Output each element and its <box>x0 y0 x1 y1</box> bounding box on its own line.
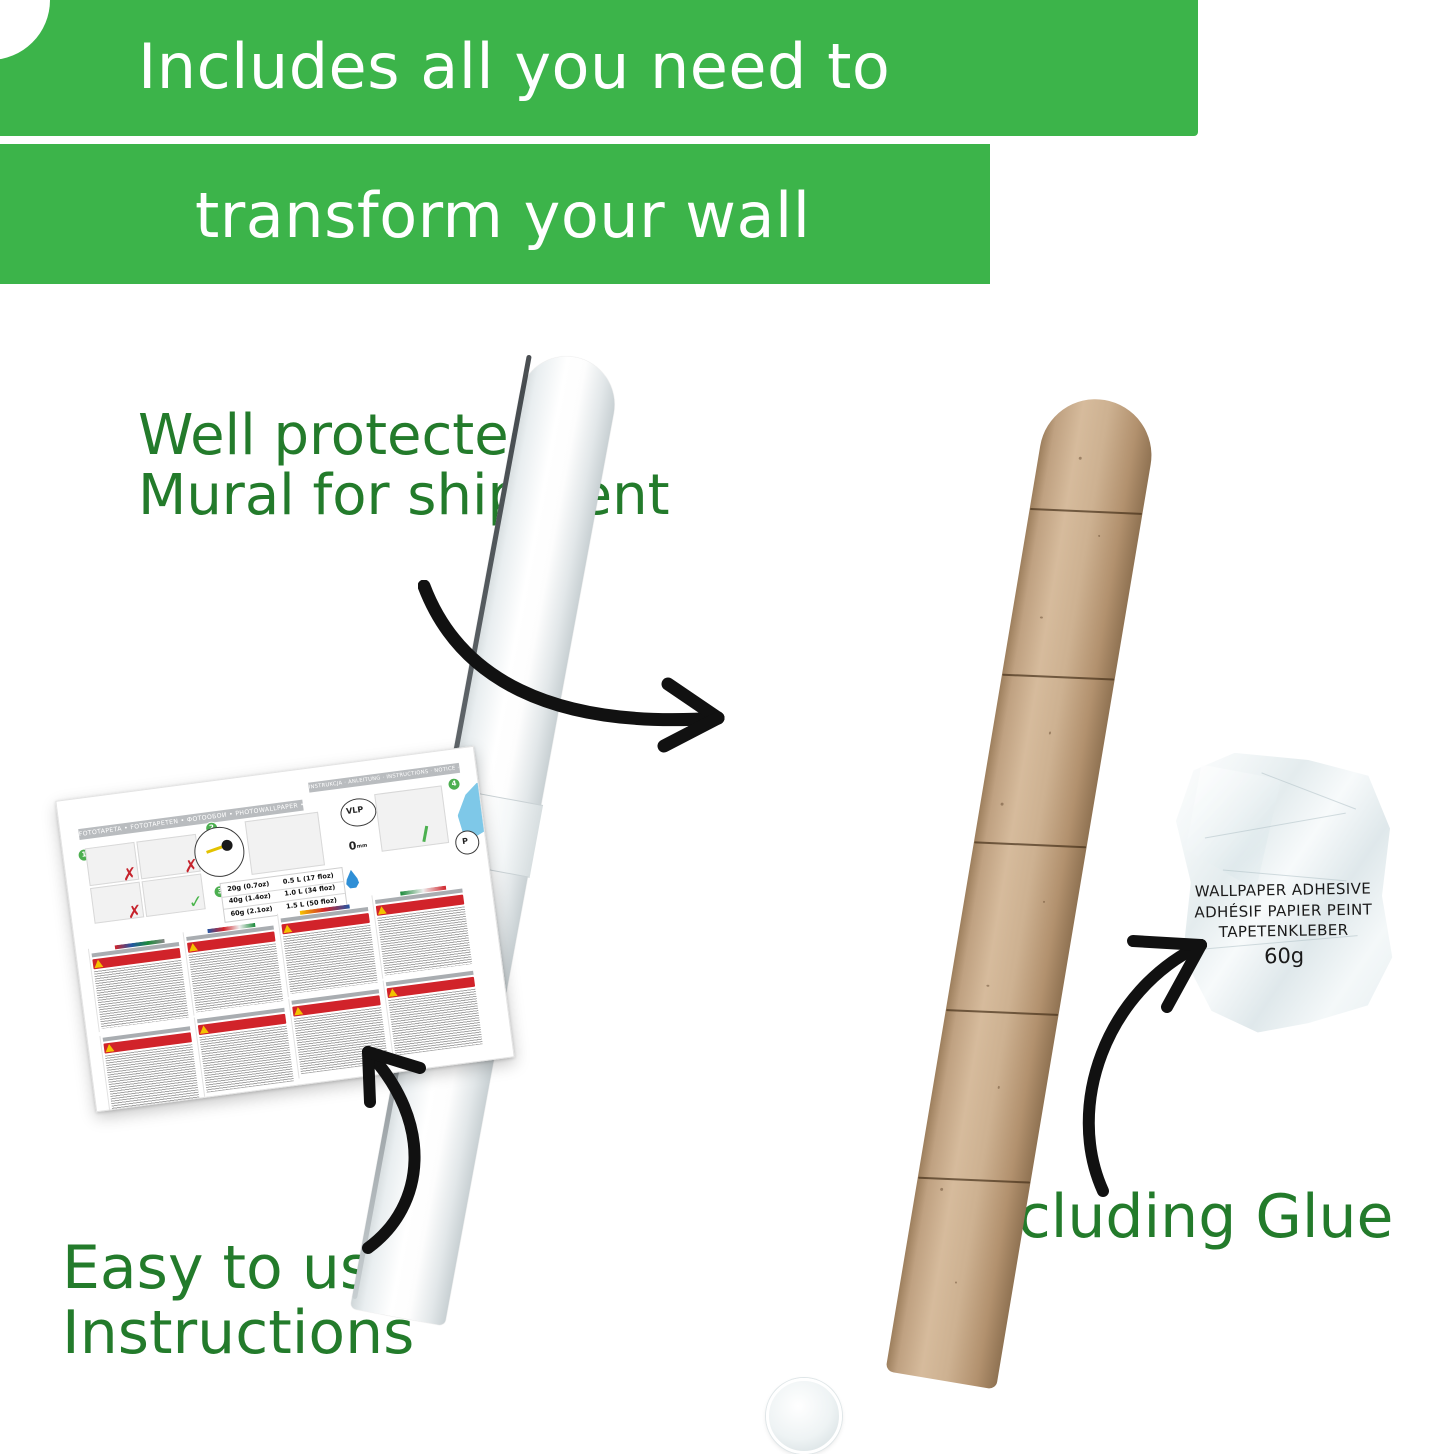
cross-mark: ✗ <box>127 904 143 923</box>
text-column <box>88 937 191 1032</box>
headline-banner-bottom: transform your wall <box>0 144 990 284</box>
text-column <box>371 883 474 978</box>
instruction-sheet-inner: FOTOTAPETA • FOTOTAPETEN • ФОТООБОИ • PH… <box>66 758 505 1102</box>
vlp-wall-panel <box>374 785 449 851</box>
tube-end-cap <box>766 1378 842 1454</box>
water-drop-icon <box>344 869 360 890</box>
glue-sachet: WALLPAPER ADHESIVE ADHÉSIF PAPIER PEINT … <box>1166 750 1401 1034</box>
text-column <box>99 1024 202 1112</box>
glue-weight: 60g <box>1169 942 1399 970</box>
glue-label-block: WALLPAPER ADHESIVE ADHÉSIF PAPIER PEINT … <box>1168 878 1399 944</box>
body-text-lines <box>199 1026 294 1093</box>
headline-line-1: Includes all you need to <box>138 30 890 103</box>
body-text-lines <box>294 1007 389 1074</box>
body-text-lines <box>377 906 472 975</box>
instruction-sheet: FOTOTAPETA • FOTOTAPETEN • ФОТООБОИ • PH… <box>55 746 514 1112</box>
text-column <box>288 987 391 1078</box>
body-text-lines <box>388 989 483 1056</box>
headline-line-2: transform your wall <box>195 179 810 252</box>
text-column <box>277 902 380 997</box>
glue-label-line-3: TAPETENKLEBER <box>1169 919 1399 944</box>
body-text-lines <box>189 943 284 1012</box>
step2-wall-panel <box>245 812 325 875</box>
kraft-speck <box>986 985 989 987</box>
body-text-lines <box>94 960 189 1029</box>
check-mark: ✓ <box>188 894 204 913</box>
cross-mark: ✗ <box>122 866 138 885</box>
kraft-speck <box>1040 616 1043 618</box>
body-text-lines <box>283 925 378 994</box>
p-label-bottom: P <box>462 836 469 846</box>
infographic-canvas: Includes all you need to transform your … <box>0 0 1445 1445</box>
body-text-lines <box>105 1044 200 1111</box>
dose-glue: 60g (2.1oz) <box>230 904 273 917</box>
headline-banner-top: Includes all you need to <box>0 0 1198 136</box>
text-column <box>183 920 286 1015</box>
step-number-4: 4 <box>447 777 462 792</box>
text-column <box>194 1006 297 1097</box>
text-column <box>383 969 486 1060</box>
zero-gap-unit: mm <box>357 843 368 850</box>
